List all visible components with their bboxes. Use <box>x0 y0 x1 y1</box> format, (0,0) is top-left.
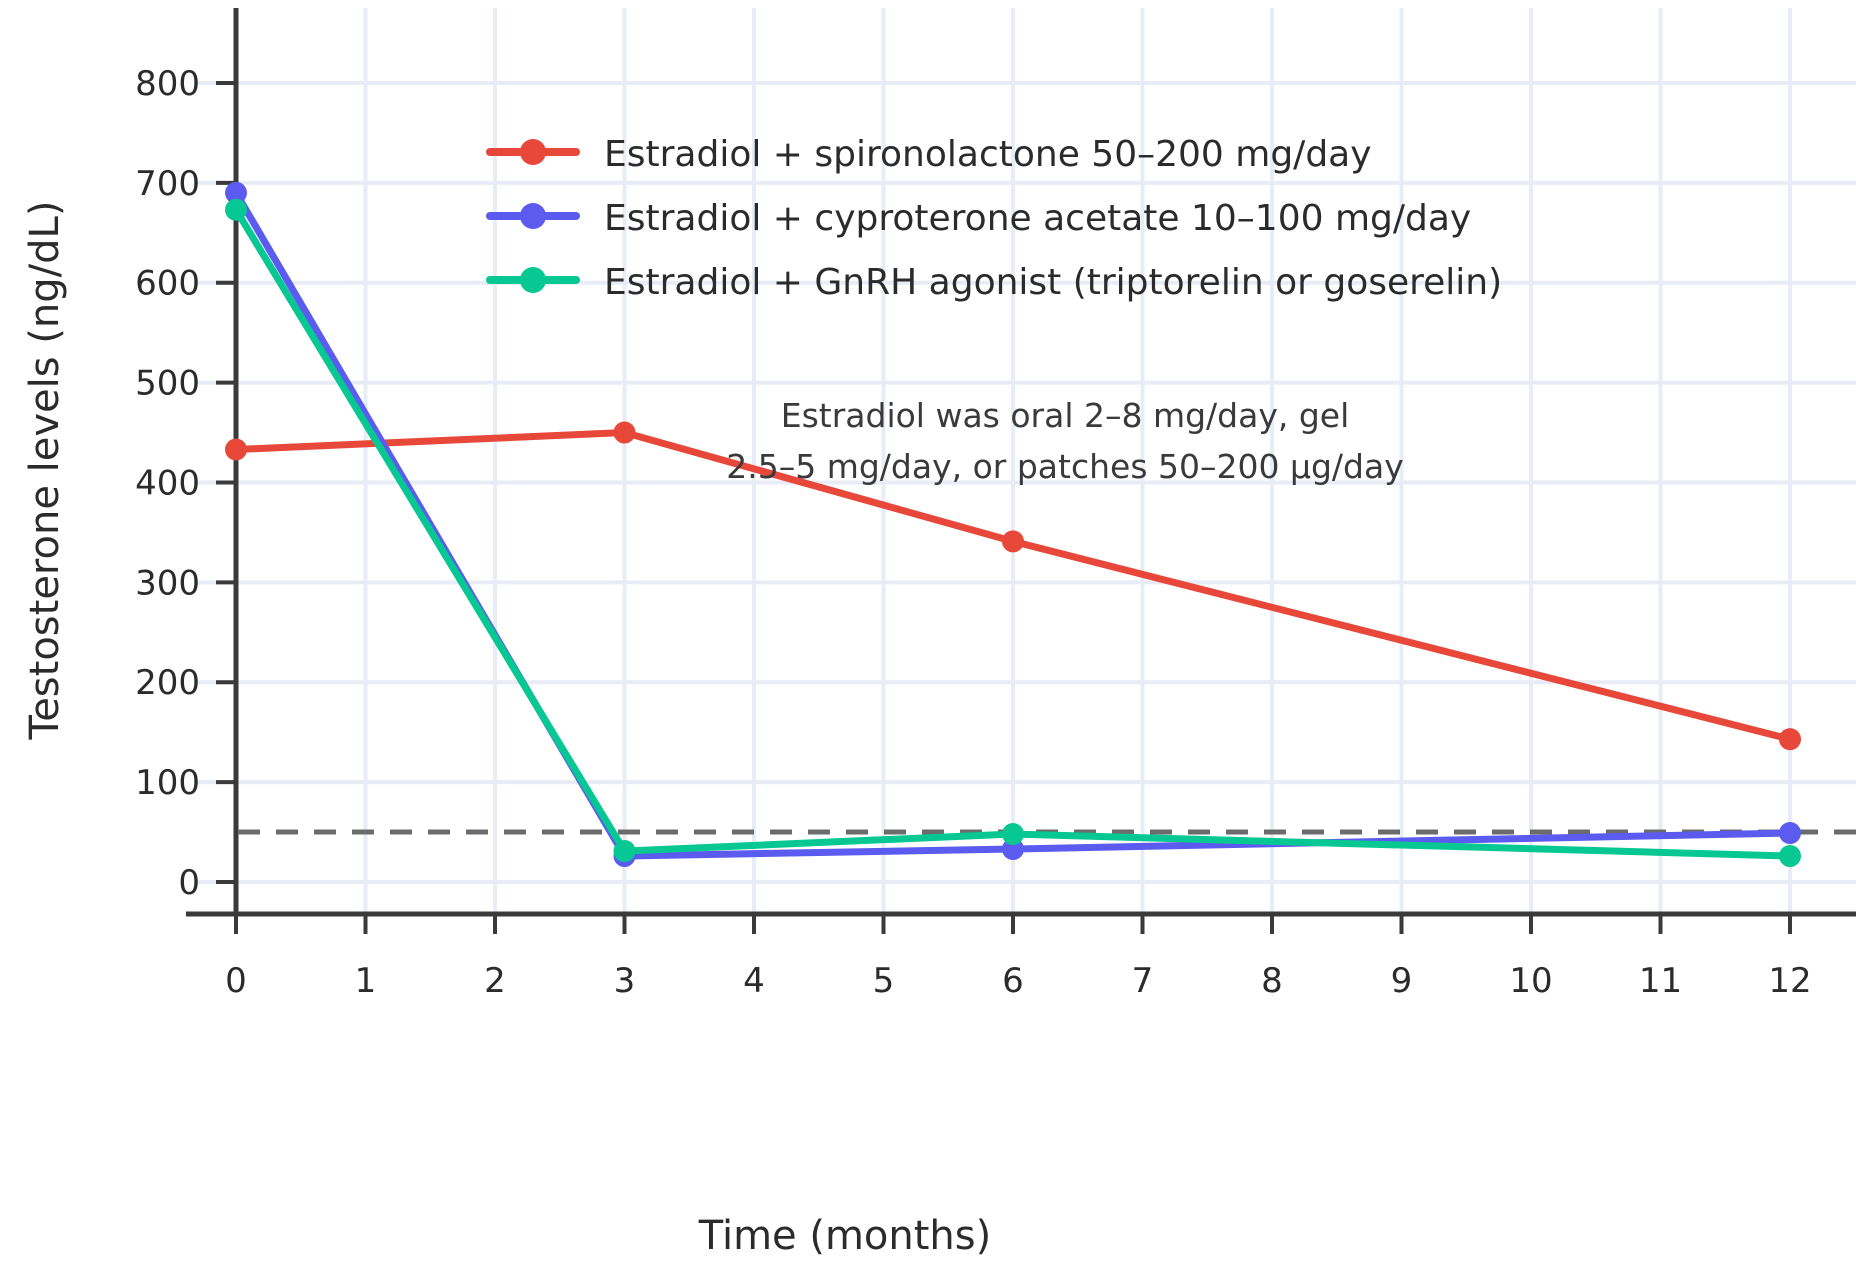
y-tick-label: 200 <box>135 663 200 703</box>
data-point <box>1779 728 1801 750</box>
y-tick-label: 400 <box>135 463 200 503</box>
legend-item-label: Estradiol + spironolactone 50–200 mg/day <box>604 134 1372 175</box>
x-tick-label: 8 <box>1261 961 1283 1001</box>
legend-swatch-marker <box>520 203 546 229</box>
y-tick-label: 600 <box>135 264 200 304</box>
chart-legend: Estradiol + spironolactone 50–200 mg/day… <box>490 134 1502 303</box>
x-tick-label: 6 <box>1002 961 1024 1001</box>
chart-figure: 0100200300400500600700800 01234567891011… <box>0 0 1856 1284</box>
data-point <box>614 840 636 862</box>
x-tick-label: 12 <box>1768 961 1811 1001</box>
data-point <box>1002 823 1024 845</box>
legend-item-label: Estradiol + GnRH agonist (triptorelin or… <box>604 262 1502 303</box>
y-tick-label: 800 <box>135 64 200 104</box>
x-axis-title: Time (months) <box>698 1213 991 1259</box>
data-point <box>225 199 247 221</box>
x-tick-label: 10 <box>1509 961 1552 1001</box>
x-tick-labels: 0123456789101112 <box>225 961 1811 1001</box>
legend-swatch-marker <box>520 139 546 165</box>
data-point <box>1779 845 1801 867</box>
legend-item-label: Estradiol + cyproterone acetate 10–100 m… <box>604 198 1471 239</box>
annotation-line-1: Estradiol was oral 2–8 mg/day, gel <box>781 396 1350 435</box>
data-point <box>225 439 247 461</box>
data-point <box>614 422 636 444</box>
y-tick-label: 100 <box>135 763 200 803</box>
x-tick-label: 3 <box>614 961 636 1001</box>
x-tick-label: 5 <box>873 961 895 1001</box>
x-tick-label: 4 <box>743 961 765 1001</box>
y-tick-labels: 0100200300400500600700800 <box>135 64 200 903</box>
y-tick-label: 300 <box>135 563 200 603</box>
x-tick-label: 1 <box>355 961 377 1001</box>
data-point <box>1779 822 1801 844</box>
annotation-line-2: 2.5–5 mg/day, or patches 50–200 µg/day <box>726 447 1403 486</box>
y-tick-label: 0 <box>178 863 200 903</box>
x-tick-label: 11 <box>1639 961 1682 1001</box>
data-point <box>1002 530 1024 552</box>
x-tick-label: 7 <box>1132 961 1154 1001</box>
x-tick-label: 0 <box>225 961 247 1001</box>
y-tick-label: 700 <box>135 164 200 204</box>
y-tick-label: 500 <box>135 364 200 404</box>
line-chart-canvas: 0100200300400500600700800 01234567891011… <box>0 0 1856 1284</box>
legend-swatch-marker <box>520 267 546 293</box>
x-tick-label: 9 <box>1391 961 1413 1001</box>
x-tick-label: 2 <box>484 961 506 1001</box>
y-axis-title: Testosterone levels (ng/dL) <box>22 201 68 741</box>
